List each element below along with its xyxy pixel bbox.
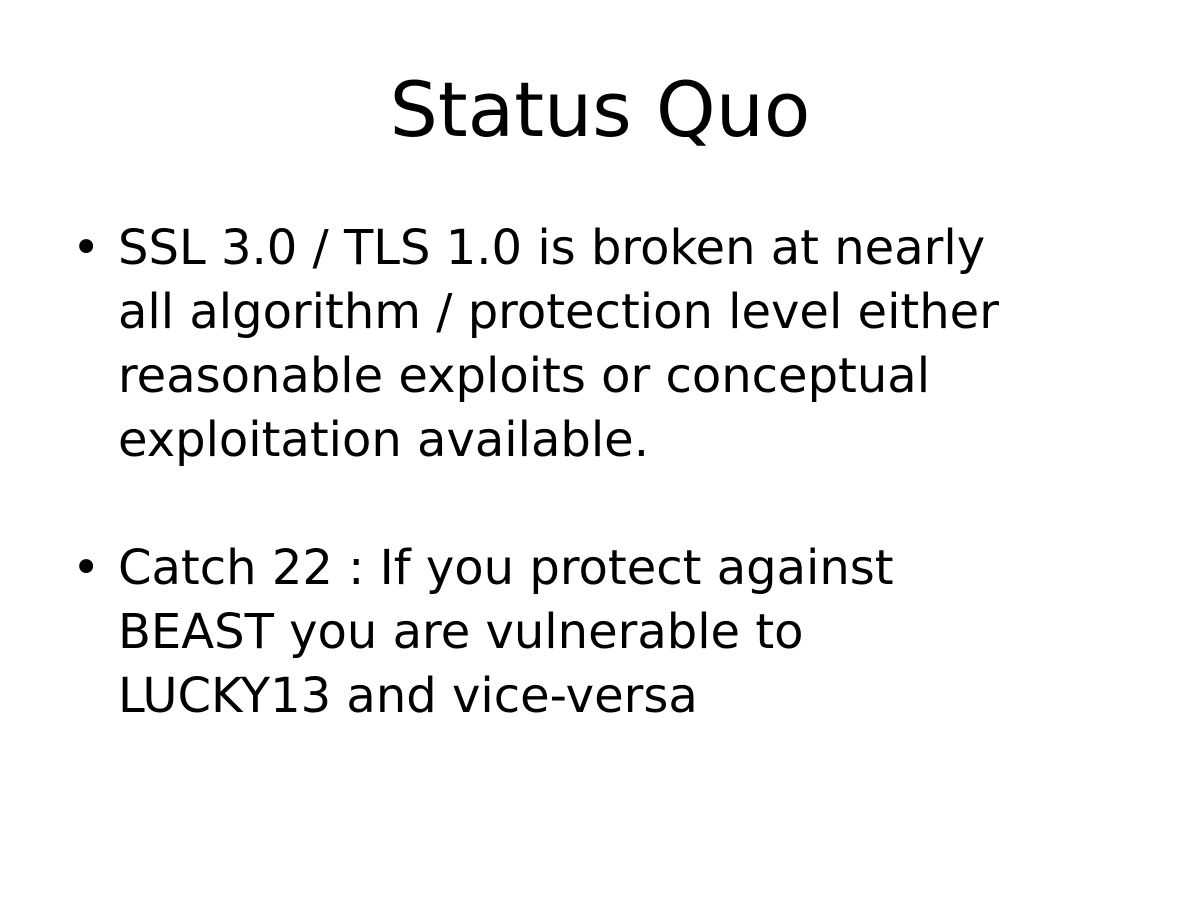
list-item-line: LUCKY13 and vice-versa	[118, 664, 1140, 728]
list-item: • Catch 22 : If you protect against BEAS…	[60, 536, 1140, 728]
page-title: Status Quo	[0, 64, 1200, 156]
list-item: • SSL 3.0 / TLS 1.0 is broken at nearly …	[60, 216, 1140, 472]
list-item-line: BEAST you are vulnerable to	[118, 600, 1140, 664]
list-item-text: Catch 22 : If you protect against BEAST …	[118, 536, 1140, 728]
list-item-line: all algorithm / protection level either	[118, 280, 1140, 344]
presentation-slide: Status Quo • SSL 3.0 / TLS 1.0 is broken…	[0, 0, 1200, 900]
bullet-list: • SSL 3.0 / TLS 1.0 is broken at nearly …	[60, 216, 1140, 728]
list-item-line: exploitation available.	[118, 408, 1140, 472]
list-item-text: SSL 3.0 / TLS 1.0 is broken at nearly al…	[118, 216, 1140, 472]
bullet-point-icon: •	[72, 536, 98, 600]
bullet-point-icon: •	[72, 216, 98, 280]
list-item-line: SSL 3.0 / TLS 1.0 is broken at nearly	[118, 216, 1140, 280]
list-item-line: reasonable exploits or conceptual	[118, 344, 1140, 408]
list-item-line: Catch 22 : If you protect against	[118, 536, 1140, 600]
